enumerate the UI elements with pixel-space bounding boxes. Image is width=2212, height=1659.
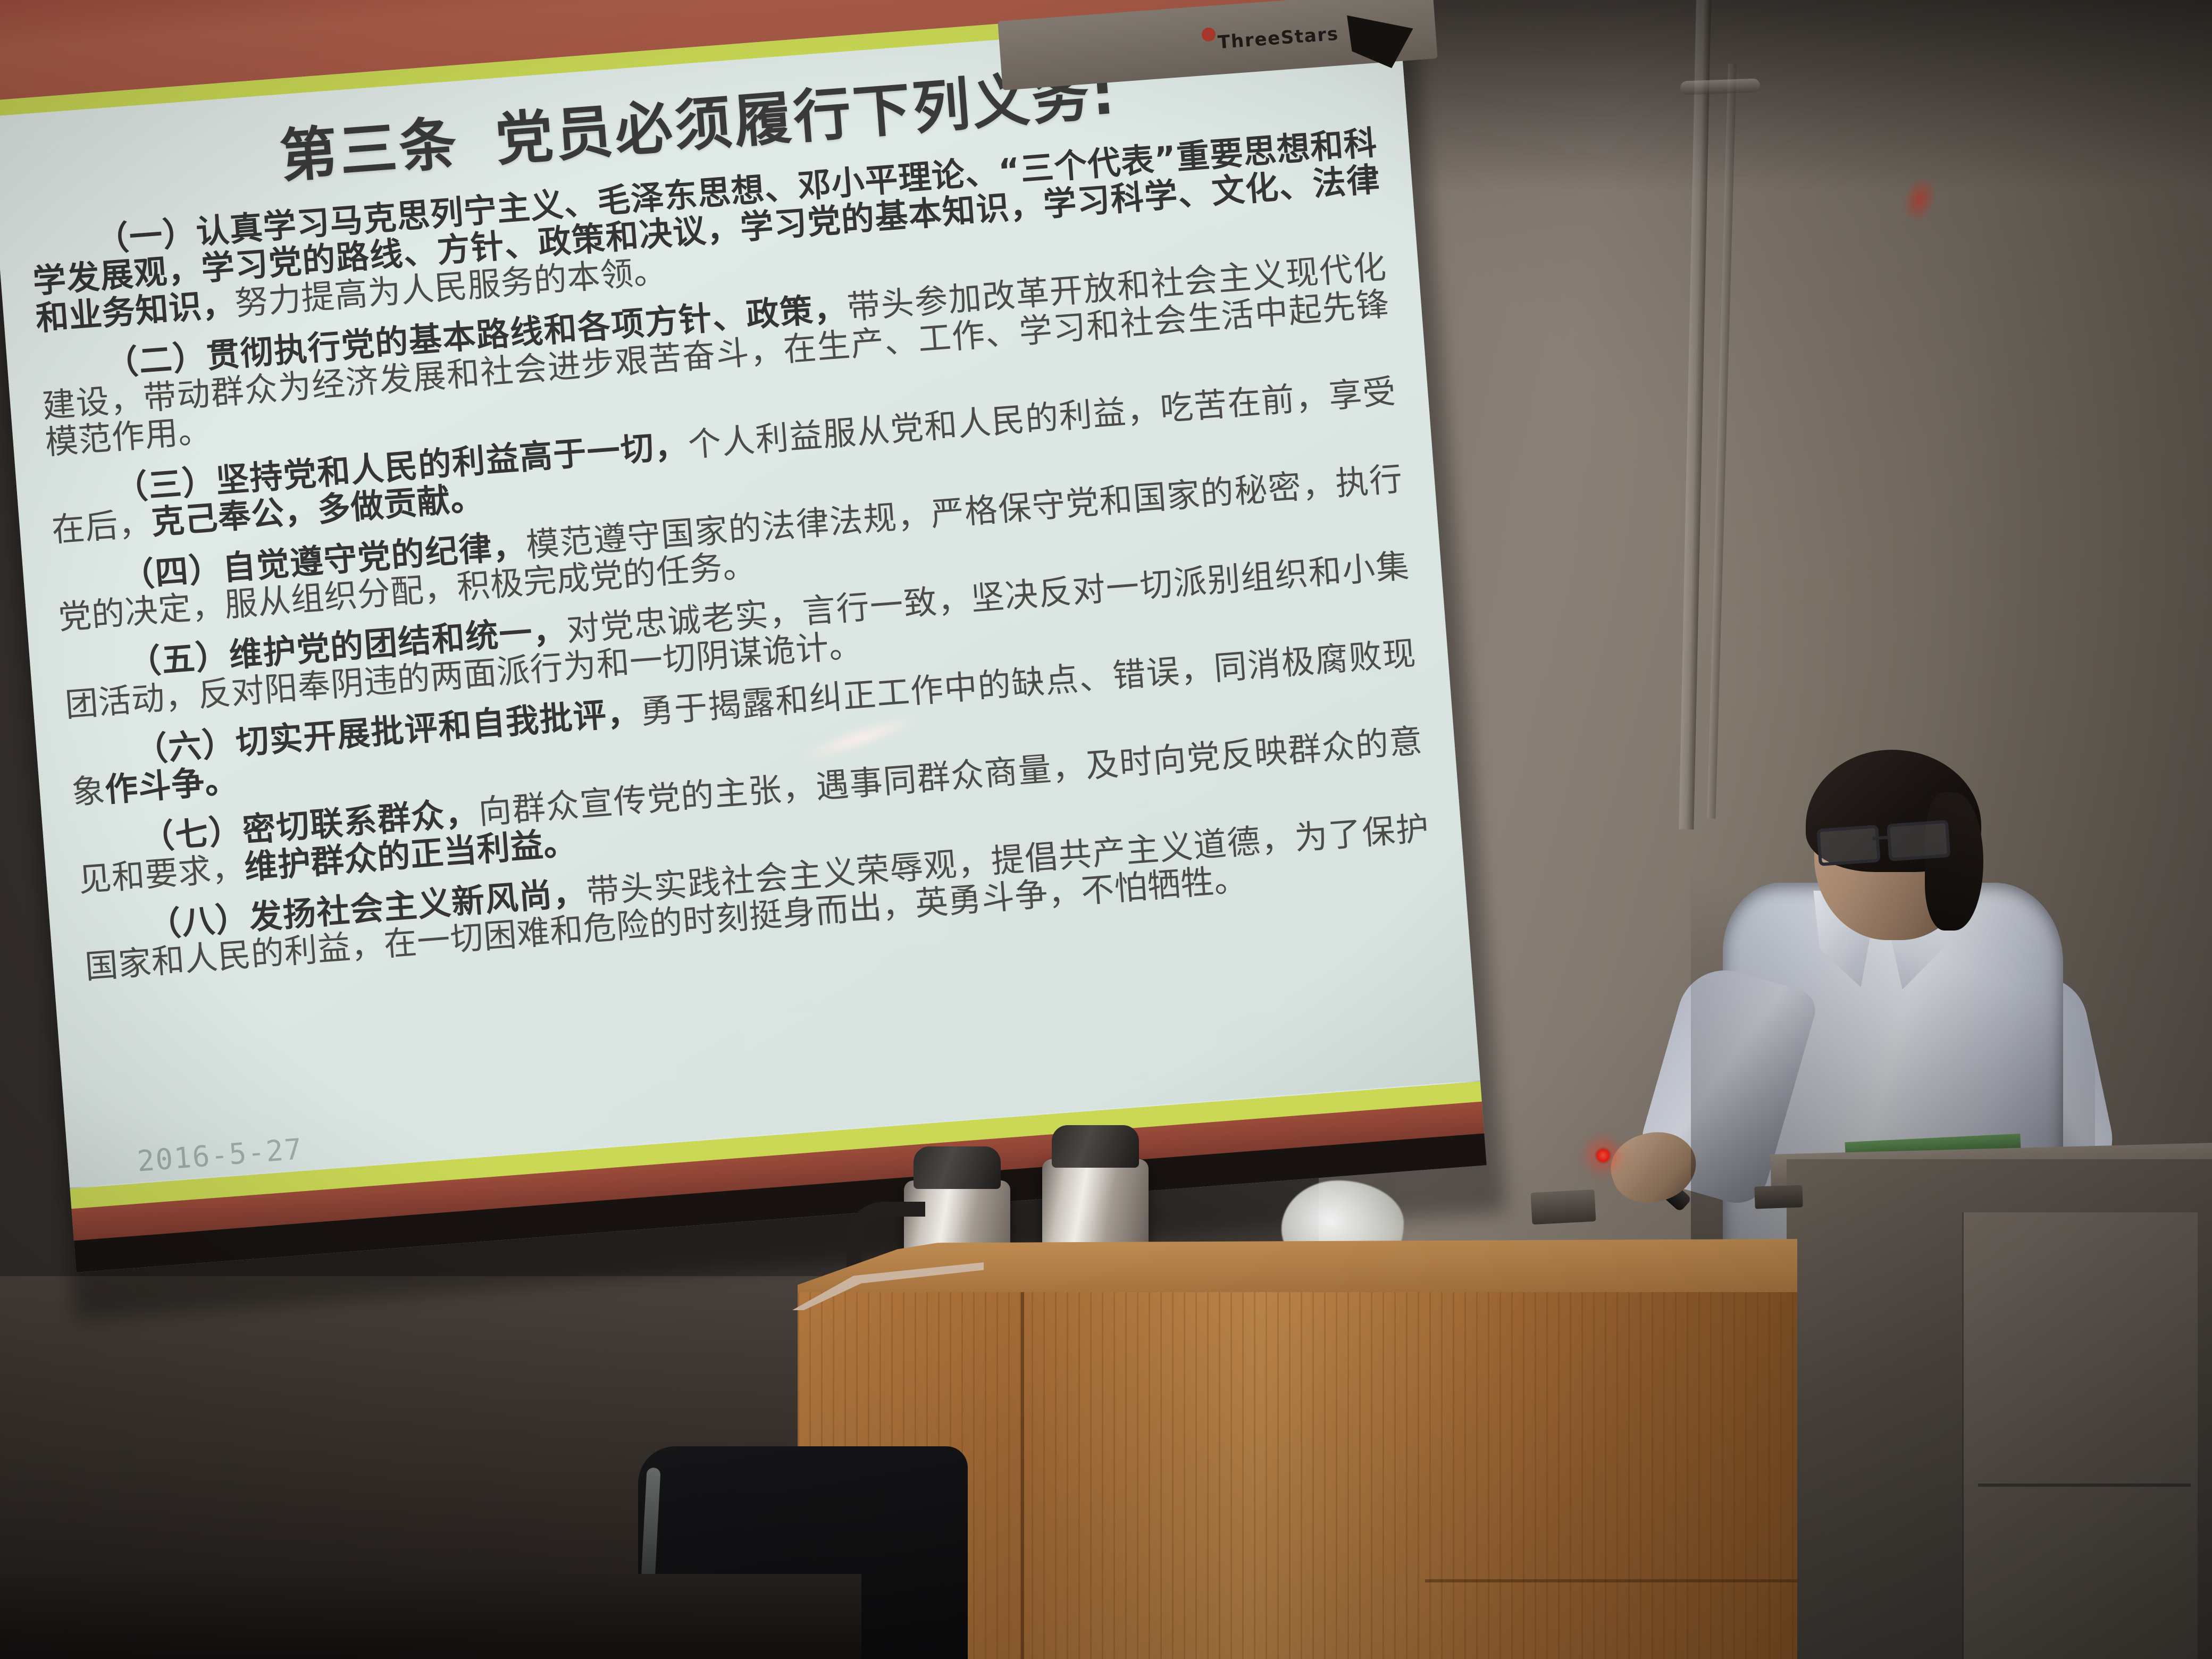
presenter-hair-side bbox=[1925, 792, 1983, 931]
glasses-lens-left bbox=[1816, 825, 1881, 866]
cabinet-side-panel bbox=[1962, 1212, 2198, 1659]
screenshot-root: 第三条党员必须履行下列义务: （一）认真学习马克思列宁主义、毛泽东思想、邓小平理… bbox=[0, 0, 2212, 1659]
glasses-bridge bbox=[1873, 836, 1889, 840]
thermos-cap bbox=[914, 1146, 1001, 1189]
slide-datestamp: 2016-5-27 bbox=[136, 1132, 304, 1178]
thermos-cap bbox=[1052, 1125, 1139, 1168]
laser-dot-indicator bbox=[1594, 1146, 1612, 1164]
desk-small-device bbox=[1531, 1189, 1596, 1225]
podium-seam bbox=[1021, 1292, 1024, 1659]
slide-title-main: 第三条 bbox=[278, 111, 461, 190]
cabinet-drawer-line bbox=[1978, 1484, 2191, 1487]
ceiling-shadow bbox=[1319, 0, 2212, 191]
glasses-lens-right bbox=[1887, 820, 1951, 861]
slide-body: 第三条党员必须履行下列义务: （一）认真学习马克思列宁主义、毛泽东思想、邓小平理… bbox=[0, 10, 1480, 1188]
floor bbox=[0, 1574, 861, 1659]
item-bold-end: 作斗争。 bbox=[104, 760, 239, 809]
desk-small-device-2 bbox=[1754, 1185, 1803, 1209]
screen-surface: 第三条党员必须履行下列义务: （一）认真学习马克思列宁主义、毛泽东思想、邓小平理… bbox=[0, 0, 1487, 1272]
pipe-bracket bbox=[1680, 78, 1761, 95]
podium-seam-horizontal bbox=[1425, 1579, 1797, 1582]
projection-screen: 第三条党员必须履行下列义务: （一）认真学习马克思列宁主义、毛泽东思想、邓小平理… bbox=[0, 0, 1501, 1315]
